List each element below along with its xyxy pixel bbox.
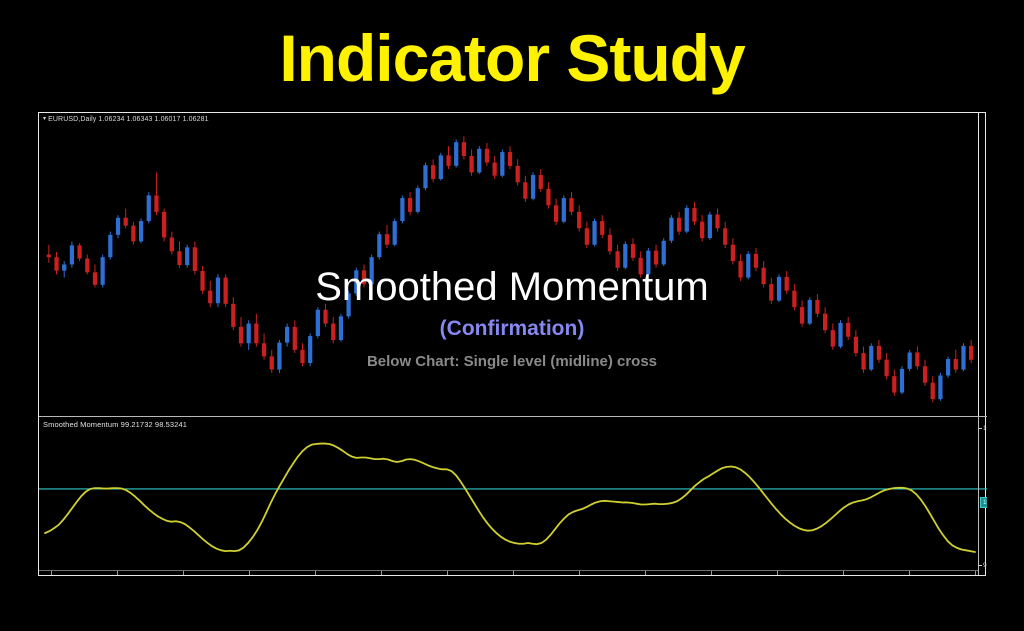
- x-axis-tick: [711, 571, 712, 575]
- x-axis-tick: [117, 571, 118, 575]
- x-axis-tick: [645, 571, 646, 575]
- x-axis-tick: [381, 571, 382, 575]
- x-axis-tick: [909, 571, 910, 575]
- x-axis-tick: [975, 571, 976, 575]
- x-axis-baseline: [39, 570, 978, 571]
- page-title: Indicator Study: [0, 16, 1024, 100]
- x-axis-ticks: [39, 570, 987, 575]
- x-axis-tick: [843, 571, 844, 575]
- indicator-axis-separator: [978, 417, 979, 575]
- x-axis-tick: [447, 571, 448, 575]
- indicator-pane[interactable]: Smoothed Momentum 99.21732 98.53241 101.…: [39, 417, 987, 575]
- symbol-info-text: EURUSD,Daily 1.06234 1.06343 1.06017 1.0…: [48, 116, 208, 123]
- x-axis-tick: [579, 571, 580, 575]
- x-axis-tick: [249, 571, 250, 575]
- price-axis-separator: [978, 113, 979, 416]
- price-chart-pane[interactable]: ▾EURUSD,Daily 1.06234 1.06343 1.06017 1.…: [39, 113, 987, 416]
- indicator-axis-min-label: 98.14082: [983, 562, 987, 570]
- candlestick-plot: [39, 113, 987, 416]
- x-axis-tick: [513, 571, 514, 575]
- indicator-info-label: Smoothed Momentum 99.21732 98.53241: [43, 420, 187, 430]
- indicator-axis-max-label: 101.49056: [983, 425, 987, 433]
- x-axis-tick: [51, 571, 52, 575]
- collapse-caret-icon[interactable]: ▾: [43, 115, 46, 124]
- midline-level-badge: 100: [980, 497, 987, 508]
- x-axis-tick: [777, 571, 778, 575]
- chart-window: ▾EURUSD,Daily 1.06234 1.06343 1.06017 1.…: [38, 112, 986, 576]
- symbol-info-label: ▾EURUSD,Daily 1.06234 1.06343 1.06017 1.…: [43, 115, 209, 125]
- x-axis-tick: [183, 571, 184, 575]
- x-axis-tick: [315, 571, 316, 575]
- indicator-plot: [39, 417, 987, 575]
